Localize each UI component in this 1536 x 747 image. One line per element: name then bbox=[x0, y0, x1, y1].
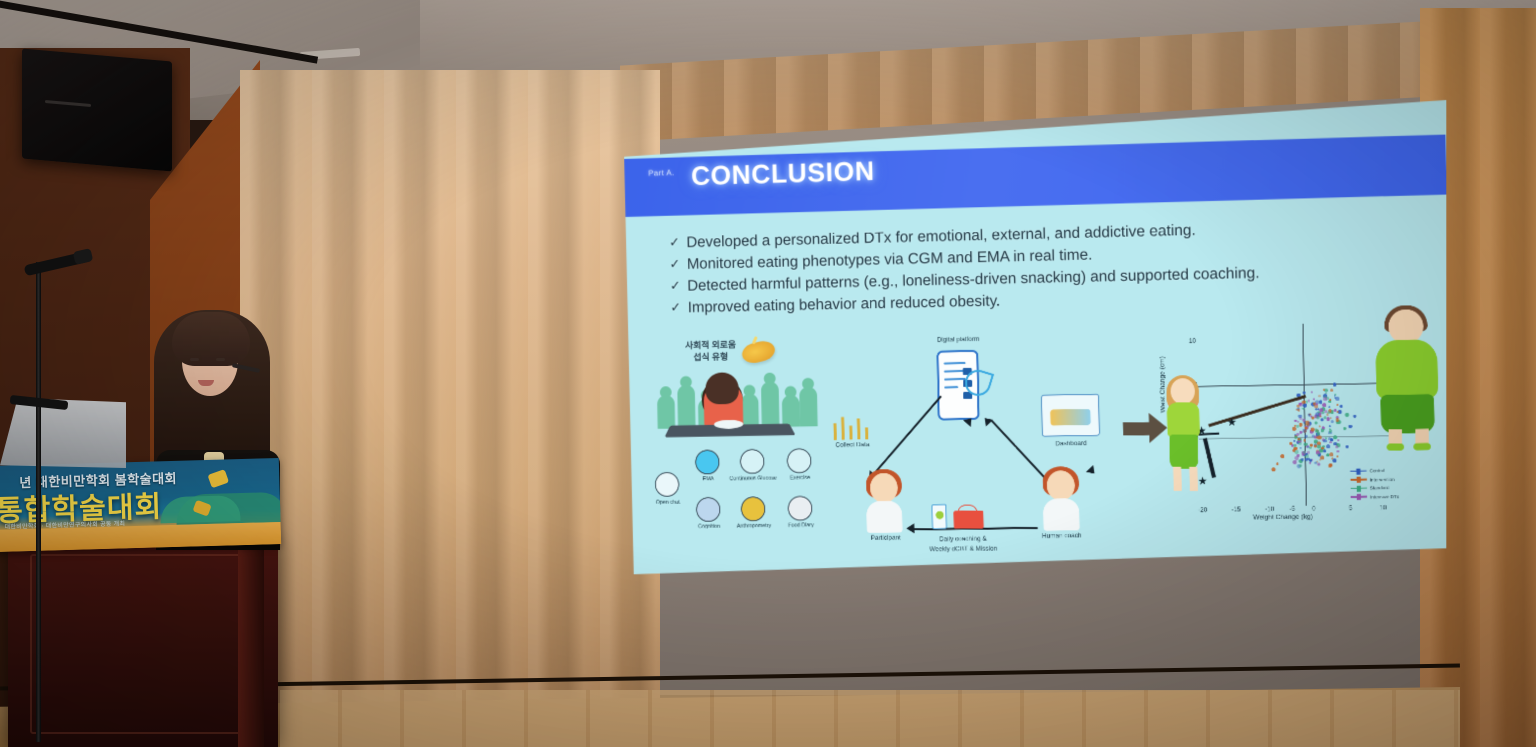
scatter-dot bbox=[1329, 399, 1331, 401]
scatter-dot bbox=[1337, 403, 1339, 405]
scatter-dot bbox=[1330, 441, 1332, 443]
arrow-participant-to-platform bbox=[873, 395, 942, 474]
scatter-dot bbox=[1307, 451, 1310, 454]
scatter-dot bbox=[1304, 442, 1307, 445]
slide-bullet-list: ✓ Developed a personalized DTx for emoti… bbox=[669, 216, 1390, 320]
scatter-dot bbox=[1325, 437, 1327, 439]
participant-avatar bbox=[862, 468, 907, 532]
legend-item: Control bbox=[1350, 467, 1438, 473]
scatter-dot bbox=[1340, 405, 1343, 408]
scatter-dot bbox=[1303, 403, 1307, 407]
scatter-dot bbox=[1323, 439, 1327, 442]
participant-label: Participant bbox=[851, 534, 920, 542]
scatter-dot bbox=[1322, 445, 1325, 448]
legend-item: Intensive DTx bbox=[1351, 493, 1439, 499]
scatter-legend: Control Intervention Standard Intensive … bbox=[1350, 467, 1439, 503]
scatter-dot bbox=[1330, 389, 1333, 392]
legend-label: Control bbox=[1370, 468, 1385, 473]
scatter-dot bbox=[1271, 467, 1275, 471]
wall-speaker-icon bbox=[22, 48, 172, 171]
scatter-dot bbox=[1336, 455, 1338, 457]
x-tick: 5 bbox=[1349, 505, 1353, 512]
person-head bbox=[705, 372, 739, 404]
scatter-x-zero-line bbox=[1198, 382, 1400, 387]
scatter-dot bbox=[1323, 397, 1327, 401]
open-chat-icon bbox=[655, 472, 680, 497]
arrow-head-left bbox=[906, 523, 914, 533]
x-tick: -10 bbox=[1265, 506, 1274, 513]
scatter-dot bbox=[1336, 443, 1338, 445]
podium-side bbox=[238, 540, 264, 747]
scatter-dot bbox=[1318, 394, 1321, 397]
scatter-dot bbox=[1302, 428, 1306, 432]
anthropometry-icon bbox=[741, 496, 766, 521]
wood-wall-slats bbox=[280, 690, 1460, 747]
presentation-room-photo: Part A. CONCLUSION ✓ Developed a persona… bbox=[0, 0, 1536, 747]
ema-icon bbox=[695, 449, 720, 474]
x-tick: 10 bbox=[1380, 504, 1387, 511]
scatter-dot bbox=[1328, 405, 1331, 408]
scatter-dot bbox=[1319, 400, 1323, 403]
checkmark-icon: ✓ bbox=[669, 255, 680, 275]
checkmark-icon: ✓ bbox=[670, 277, 681, 297]
scatter-dot bbox=[1280, 454, 1284, 458]
scatter-dot bbox=[1294, 419, 1296, 421]
scatter-dot bbox=[1349, 424, 1353, 428]
scatter-dot bbox=[1336, 418, 1340, 422]
scatter-dot bbox=[1317, 432, 1320, 435]
food-diary-icon bbox=[788, 496, 813, 521]
scatter-dot bbox=[1335, 446, 1338, 449]
human-coach-avatar bbox=[1038, 466, 1083, 531]
anthropometry-label: Anthropometry bbox=[728, 523, 781, 530]
left-stage-curtain bbox=[240, 70, 660, 747]
coaching-label-line1: Daily coaching & bbox=[920, 535, 1006, 543]
scatter-xlabel: Weight Change (kg) bbox=[1253, 513, 1313, 521]
y-tick: 10 bbox=[1189, 337, 1196, 344]
scatter-dot bbox=[1301, 458, 1304, 461]
slide-part-label: Part A. bbox=[648, 168, 674, 178]
scatter-dot bbox=[1345, 445, 1348, 448]
diagram-panel-loneliness: 사회적 외로움 섭식 유형 bbox=[648, 330, 848, 560]
legend-item: Standard bbox=[1350, 484, 1438, 490]
collect-data-label: Collect Data bbox=[826, 441, 879, 449]
legend-label: Standard bbox=[1370, 485, 1389, 490]
scatter-dot bbox=[1311, 391, 1313, 393]
continuous-glucose-label: Continuous Glucose bbox=[727, 475, 780, 482]
scatter-dot bbox=[1329, 417, 1331, 419]
scatter-dot bbox=[1293, 460, 1297, 464]
scatter-dot bbox=[1316, 435, 1320, 439]
diagram-panel-scatter: 10 5 0 Waist Change (cm) -20 -15 -10 -5 … bbox=[1172, 315, 1440, 562]
open-chat-label: Open chat bbox=[642, 499, 694, 506]
scatter-dot bbox=[1293, 439, 1295, 441]
microphone-stand bbox=[36, 262, 41, 742]
scatter-dot bbox=[1309, 458, 1313, 462]
slide-diagram: 사회적 외로움 섭식 유형 bbox=[631, 319, 1434, 568]
scatter-dot bbox=[1310, 415, 1312, 417]
scatter-dot bbox=[1329, 428, 1331, 430]
scatter-dot bbox=[1297, 420, 1300, 423]
scatter-dot bbox=[1306, 400, 1308, 402]
scatter-dot bbox=[1333, 383, 1337, 387]
scatter-star-marker: ★ bbox=[1227, 417, 1237, 428]
scatter-dot bbox=[1299, 423, 1303, 426]
scatter-y-zero-line bbox=[1302, 323, 1307, 505]
scatter-dot bbox=[1315, 421, 1318, 424]
continuous-glucose-icon bbox=[740, 449, 765, 474]
scatter-dot bbox=[1305, 421, 1309, 425]
checkmark-icon: ✓ bbox=[669, 233, 680, 253]
scatter-dot bbox=[1295, 456, 1299, 460]
scatter-dot bbox=[1343, 427, 1346, 430]
checkmark-icon: ✓ bbox=[670, 298, 681, 318]
scatter-dot bbox=[1329, 424, 1331, 426]
scatter-dot bbox=[1344, 412, 1348, 416]
legend-item: Intervention bbox=[1350, 476, 1438, 482]
exercise-icon bbox=[787, 448, 812, 473]
food-diary-label: Food Diary bbox=[774, 522, 827, 529]
projection-screen: Part A. CONCLUSION ✓ Developed a persona… bbox=[619, 100, 1446, 582]
obese-figure-illustration bbox=[1370, 308, 1445, 451]
scatter-dot bbox=[1297, 405, 1299, 407]
scatter-dot bbox=[1354, 415, 1357, 418]
dashboard-icon bbox=[1041, 394, 1100, 437]
scatter-dot bbox=[1319, 425, 1321, 427]
scatter-dot bbox=[1303, 421, 1305, 423]
human-coach-label: Human coach bbox=[1026, 532, 1098, 540]
scatter-dot bbox=[1337, 439, 1339, 441]
legend-label: Intensive DTx bbox=[1370, 493, 1399, 498]
scatter-dot bbox=[1326, 444, 1330, 448]
scatter-dot bbox=[1332, 458, 1334, 460]
scatter-dot bbox=[1296, 424, 1299, 427]
scatter-dot bbox=[1303, 439, 1306, 442]
arrow-head-down-right bbox=[1086, 465, 1098, 477]
scatter-dot bbox=[1309, 446, 1312, 449]
scatter-dot bbox=[1305, 458, 1308, 461]
scatter-dot bbox=[1317, 462, 1320, 465]
scatter-dot bbox=[1304, 435, 1307, 438]
assessment-icon-grid: Open chat EMA Continuous Glucose Exercis… bbox=[650, 447, 852, 558]
scatter-dot bbox=[1298, 414, 1301, 417]
slide: Part A. CONCLUSION ✓ Developed a persona… bbox=[619, 100, 1446, 582]
dashboard-label: Dashboard bbox=[1040, 440, 1102, 448]
scatter-dot bbox=[1298, 463, 1302, 467]
digital-platform-label: Digital platform bbox=[921, 335, 997, 343]
legend-label: Intervention bbox=[1370, 476, 1395, 481]
scatter-dot bbox=[1322, 403, 1326, 407]
slide-title: CONCLUSION bbox=[691, 156, 875, 192]
x-tick: 0 bbox=[1312, 505, 1316, 512]
x-tick: -15 bbox=[1232, 506, 1241, 513]
diagram-panel-workflow: Digital platform Collect Data Dashboard bbox=[826, 325, 1119, 565]
scatter-dot bbox=[1323, 449, 1326, 452]
slim-figure-illustration bbox=[1157, 378, 1212, 498]
arrow-head-up-right bbox=[981, 414, 993, 426]
scatter-trend-arrow bbox=[1208, 395, 1306, 428]
scatter-dot bbox=[1298, 442, 1301, 445]
event-banner: 년 대한비만학회 봄학술대회 통합학술대회 대한비만학회 · 대한비만연구의사회… bbox=[0, 458, 281, 552]
scatter-dot bbox=[1300, 446, 1302, 448]
scatter-dot bbox=[1308, 413, 1311, 416]
x-tick: -5 bbox=[1290, 505, 1296, 512]
collect-data-chart-icon bbox=[831, 413, 875, 440]
exercise-label: Exercise bbox=[774, 475, 827, 482]
plate-icon bbox=[714, 419, 743, 428]
coaching-label-line2: Weekly dCBT & Mission bbox=[911, 545, 1016, 553]
x-tick: -20 bbox=[1198, 507, 1207, 514]
scatter-dot bbox=[1330, 420, 1333, 423]
scatter-dot bbox=[1329, 452, 1333, 456]
scatter-dot bbox=[1329, 463, 1333, 467]
scatter-dot bbox=[1276, 462, 1279, 465]
scatter-dot bbox=[1298, 409, 1301, 412]
cognition-icon bbox=[696, 497, 721, 522]
scatter-dot bbox=[1292, 426, 1296, 430]
coaching-icons bbox=[932, 503, 992, 530]
scatter-dot bbox=[1337, 450, 1339, 452]
scatter-dot bbox=[1315, 403, 1317, 405]
